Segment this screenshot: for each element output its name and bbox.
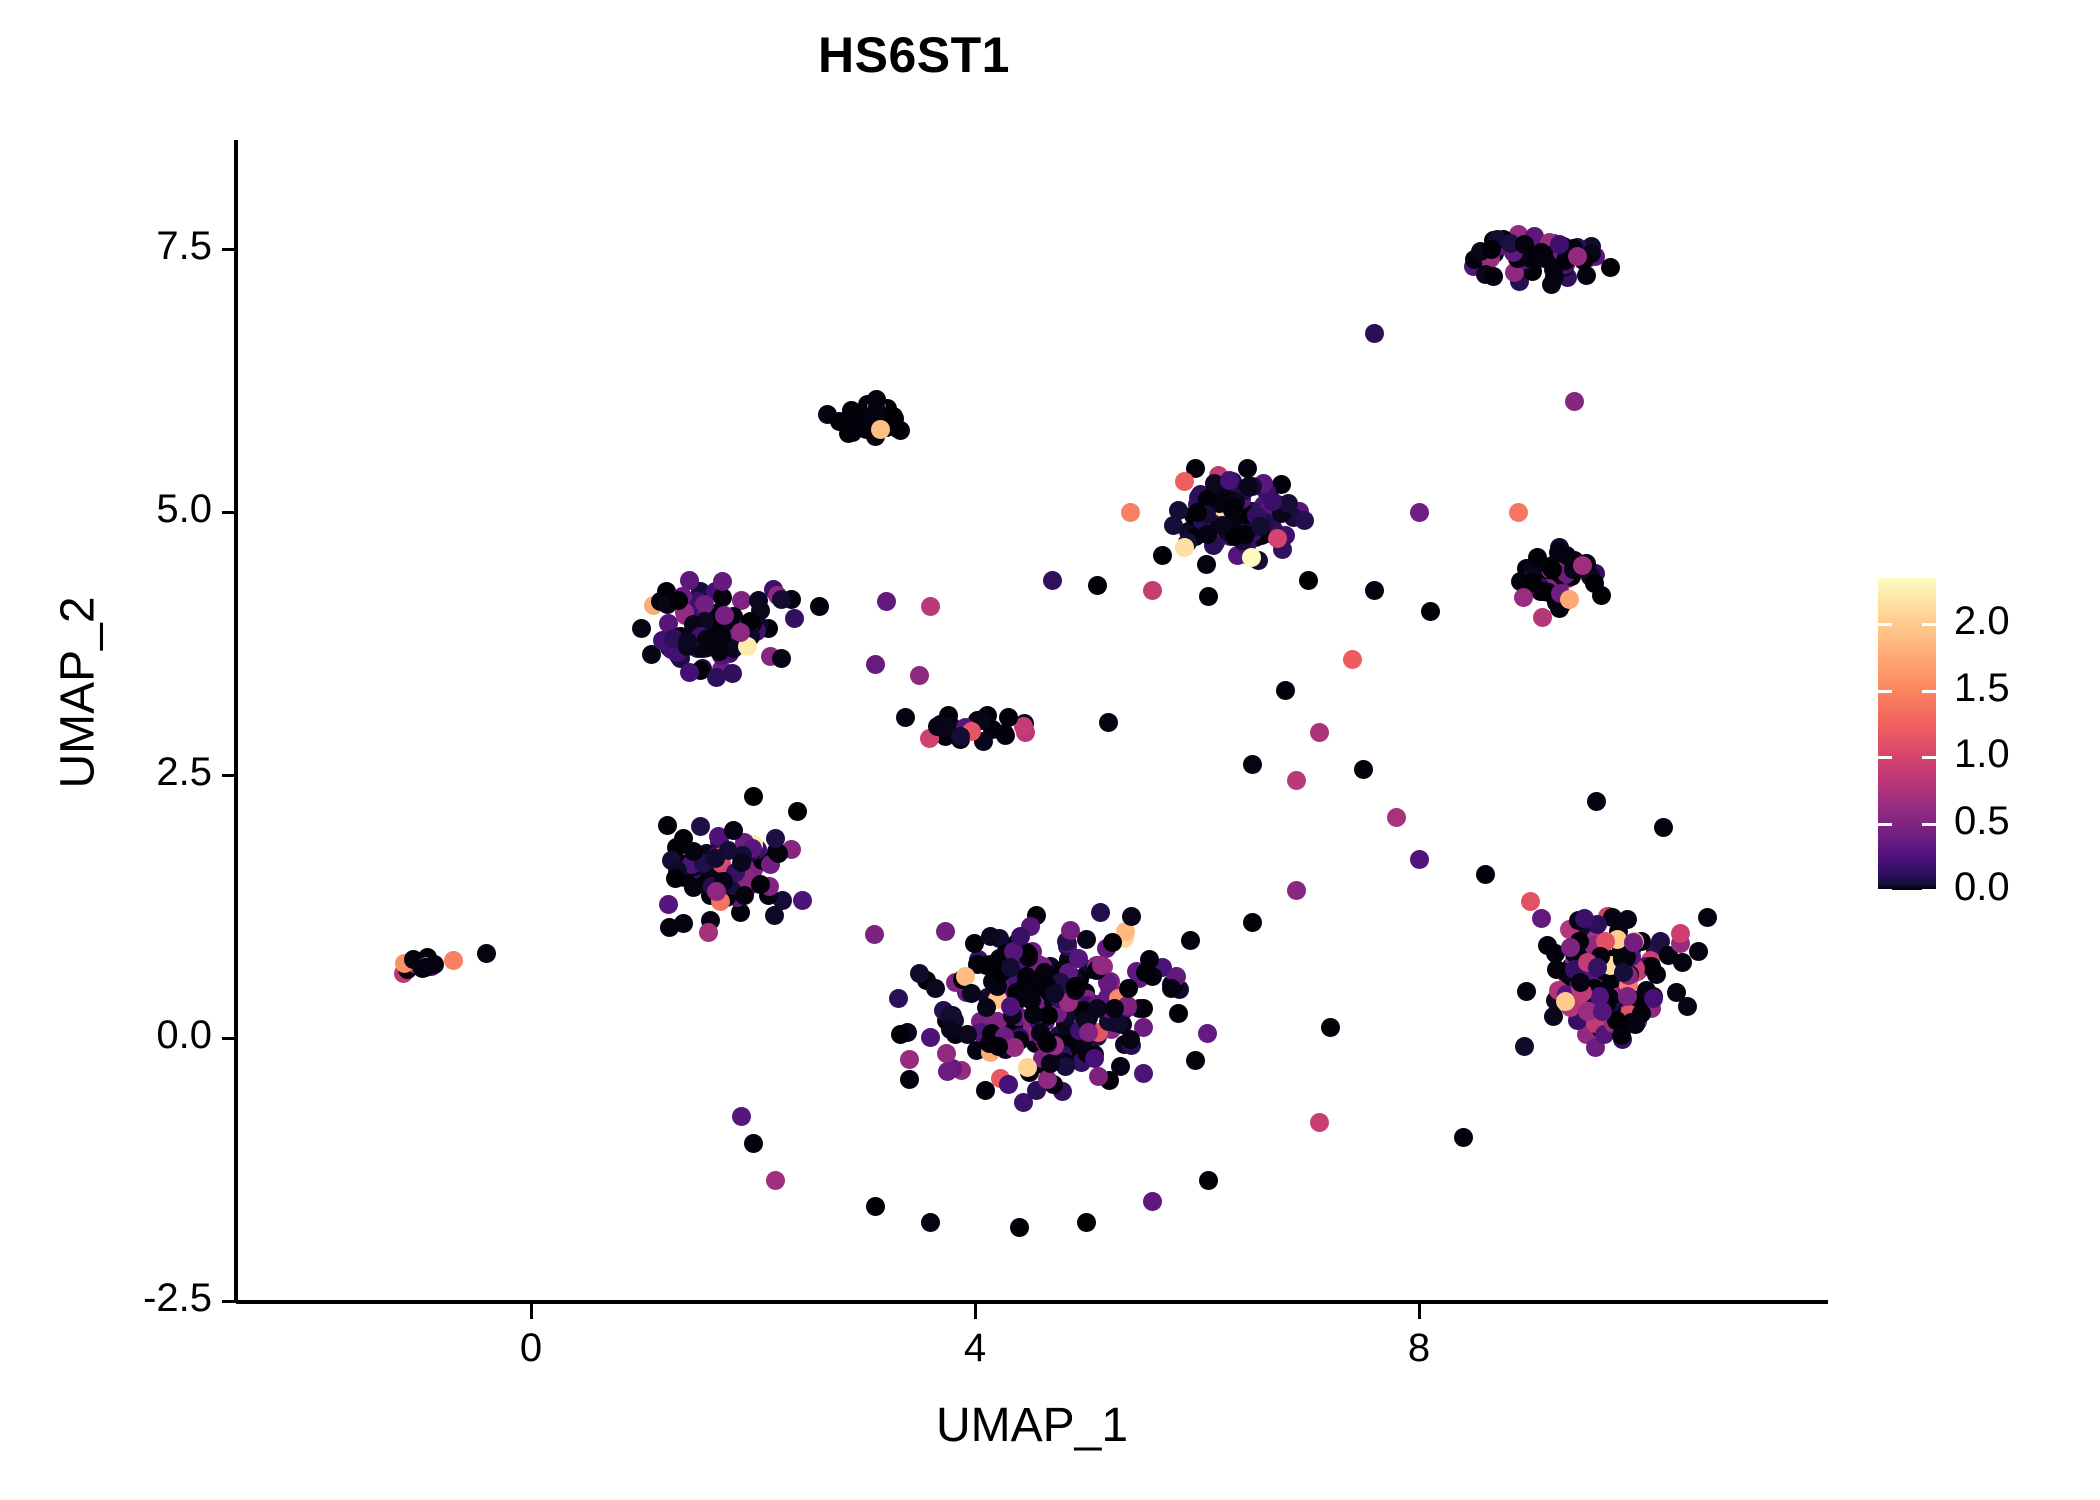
scatter-point	[1089, 1067, 1108, 1086]
scatter-point	[666, 869, 685, 888]
scatter-point	[981, 927, 1000, 946]
scatter-point	[444, 951, 463, 970]
scatter-point	[744, 1134, 763, 1153]
scatter-point	[962, 984, 981, 1003]
scatter-point	[926, 979, 945, 998]
scatter-point	[766, 829, 785, 848]
scatter-point	[1162, 979, 1181, 998]
scatter-point	[658, 816, 677, 835]
scatter-point	[735, 886, 754, 905]
scatter-point	[1514, 588, 1533, 607]
scatter-point	[1010, 1218, 1029, 1237]
scatter-point	[1175, 472, 1194, 491]
scatter-point	[1654, 818, 1673, 837]
scatter-point	[715, 606, 734, 625]
scatter-point	[1614, 963, 1633, 982]
x-tick-mark	[530, 1304, 533, 1319]
scatter-point	[1521, 892, 1540, 911]
scatter-point	[1515, 1037, 1534, 1056]
scatter-point	[1575, 909, 1594, 928]
scatter-point	[1287, 771, 1306, 790]
x-tick-mark	[1418, 1304, 1421, 1319]
scatter-point	[707, 668, 726, 687]
scatter-point	[1197, 555, 1216, 574]
scatter-point	[1198, 1024, 1217, 1043]
scatter-point	[1343, 650, 1362, 669]
page-title: HS6ST1	[0, 26, 1828, 84]
scatter-point	[1550, 235, 1569, 254]
scatter-point	[1061, 921, 1080, 940]
y-tick-label: -2.5	[143, 1276, 212, 1321]
scatter-point	[1268, 529, 1287, 548]
scatter-point	[999, 708, 1018, 727]
scatter-point	[1387, 808, 1406, 827]
y-tick-label: 5.0	[156, 487, 212, 532]
scatter-point	[691, 817, 710, 836]
scatter-point	[1136, 963, 1155, 982]
plot-panel	[236, 140, 1828, 1302]
chart-root: HS6ST1 7.55.02.50.0-2.5 048 UMAP_2 UMAP_…	[0, 0, 2100, 1500]
scatter-point	[1043, 571, 1062, 590]
scatter-point	[1181, 931, 1200, 950]
scatter-point	[1365, 581, 1384, 600]
scatter-point	[1618, 987, 1637, 1006]
colorbar-tick-mark	[1878, 756, 1892, 759]
scatter-point	[1018, 1058, 1037, 1077]
scatter-point	[1310, 723, 1329, 742]
scatter-point	[889, 989, 908, 1008]
y-tick-label: 2.5	[156, 750, 212, 795]
y-tick-label: 7.5	[156, 224, 212, 269]
scatter-point	[1122, 907, 1141, 926]
scatter-point	[996, 726, 1015, 745]
colorbar-tick-label: 0.5	[1954, 799, 2010, 844]
scatter-point	[1045, 984, 1064, 1003]
y-axis-title: UMAP_2	[51, 343, 106, 1043]
scatter-point	[1175, 538, 1194, 557]
scatter-point	[1573, 556, 1592, 575]
scatter-point	[1242, 548, 1261, 567]
scatter-point	[751, 875, 770, 894]
scatter-point	[477, 944, 496, 963]
scatter-point	[1547, 960, 1566, 979]
scatter-point	[1354, 760, 1373, 779]
y-tick-mark	[222, 1037, 236, 1040]
scatter-point	[1018, 982, 1037, 1001]
scatter-point	[1532, 909, 1551, 928]
scatter-point	[936, 922, 955, 941]
scatter-point	[1263, 492, 1282, 511]
scatter-point	[709, 630, 728, 649]
scatter-point	[632, 619, 651, 638]
scatter-point	[1001, 958, 1020, 977]
scatter-point	[1287, 881, 1306, 900]
scatter-point	[1213, 516, 1232, 535]
colorbar-tick-mark	[1922, 690, 1936, 693]
colorbar-tick-mark	[1922, 889, 1936, 892]
scatter-point	[1153, 546, 1172, 565]
scatter-point	[951, 727, 970, 746]
scatter-point	[1410, 503, 1429, 522]
scatter-point	[1410, 850, 1429, 869]
scatter-point	[699, 923, 718, 942]
scatter-point	[866, 655, 885, 674]
scatter-point	[1085, 1049, 1104, 1068]
scatter-point	[1276, 681, 1295, 700]
scatter-point	[788, 802, 807, 821]
colorbar-tick-label: 1.0	[1954, 732, 2010, 777]
scatter-point	[896, 708, 915, 727]
scatter-point	[1689, 942, 1708, 961]
y-tick-mark	[222, 248, 236, 251]
scatter-point	[1571, 973, 1590, 992]
scatter-point	[1588, 958, 1607, 977]
colorbar-tick-mark	[1922, 756, 1936, 759]
colorbar-tick-mark	[1878, 823, 1892, 826]
scatter-point	[1041, 1054, 1060, 1073]
scatter-point	[1134, 999, 1153, 1018]
scatter-point	[1618, 910, 1637, 929]
scatter-point	[1299, 571, 1318, 590]
y-axis-line	[234, 140, 238, 1302]
colorbar-tick-mark	[1922, 823, 1936, 826]
y-tick-label: 0.0	[156, 1013, 212, 1058]
scatter-point	[1509, 503, 1528, 522]
scatter-point	[1103, 933, 1122, 952]
scatter-point	[941, 1020, 960, 1039]
scatter-point	[900, 1070, 919, 1089]
scatter-point	[793, 891, 812, 910]
scatter-point	[1279, 494, 1298, 513]
scatter-point	[1295, 511, 1314, 530]
colorbar-tick-mark	[1878, 623, 1892, 626]
scatter-point	[1099, 713, 1118, 732]
scatter-point	[723, 664, 742, 683]
scatter-point	[1243, 913, 1262, 932]
scatter-point	[1119, 979, 1138, 998]
scatter-point	[1365, 324, 1384, 343]
x-tick-label: 0	[481, 1326, 581, 1371]
scatter-point	[1671, 924, 1690, 943]
scatter-point	[866, 1197, 885, 1216]
scatter-point	[1601, 258, 1620, 277]
x-axis-line	[236, 1300, 1828, 1304]
scatter-point	[891, 1025, 910, 1044]
scatter-point	[928, 717, 947, 736]
scatter-point	[660, 918, 679, 937]
scatter-point	[684, 842, 703, 861]
scatter-point	[425, 955, 444, 974]
scatter-point	[1542, 275, 1561, 294]
scatter-point	[1121, 503, 1140, 522]
scatter-point	[772, 590, 791, 609]
scatter-point	[1143, 1192, 1162, 1211]
scatter-point	[1484, 267, 1503, 286]
scatter-point	[713, 572, 732, 591]
scatter-point	[1698, 908, 1717, 927]
scatter-point	[1310, 1113, 1329, 1132]
scatter-point	[1223, 497, 1242, 516]
scatter-point	[1024, 1005, 1043, 1024]
scatter-point	[1066, 977, 1085, 996]
scatter-point	[1476, 865, 1495, 884]
colorbar-tick-label: 2.0	[1954, 599, 2010, 644]
scatter-point	[706, 849, 725, 868]
scatter-point	[999, 1075, 1018, 1094]
scatter-point	[1585, 574, 1604, 593]
scatter-point	[1188, 503, 1207, 522]
colorbar-legend: 2.01.51.00.50.0	[1878, 578, 2078, 890]
scatter-point	[1482, 240, 1501, 259]
scatter-point	[1077, 1213, 1096, 1232]
scatter-point	[1642, 957, 1661, 976]
scatter-point	[1644, 989, 1663, 1008]
scatter-point	[1454, 1128, 1473, 1147]
scatter-point	[1220, 471, 1239, 490]
scatter-point	[772, 649, 791, 668]
scatter-point	[1134, 1064, 1153, 1083]
scatter-point	[1105, 999, 1124, 1018]
colorbar-tick-label: 1.5	[1954, 666, 2010, 711]
scatter-point	[1538, 936, 1557, 955]
scatter-point	[1421, 602, 1440, 621]
scatter-points-layer	[236, 140, 1828, 1302]
scatter-point	[921, 597, 940, 616]
scatter-point	[766, 1171, 785, 1190]
scatter-point	[785, 609, 804, 628]
x-tick-label: 8	[1369, 1326, 1469, 1371]
scatter-point	[678, 632, 697, 651]
scatter-point	[684, 878, 703, 897]
scatter-point	[1001, 997, 1020, 1016]
scatter-point	[1088, 576, 1107, 595]
scatter-point	[1199, 587, 1218, 606]
scatter-point	[659, 895, 678, 914]
scatter-point	[977, 998, 996, 1017]
x-tick-label: 4	[925, 1326, 1025, 1371]
scatter-point	[865, 925, 884, 944]
scatter-point	[1624, 933, 1643, 952]
scatter-point	[1565, 392, 1584, 411]
scatter-point	[1143, 581, 1162, 600]
scatter-point	[1091, 903, 1110, 922]
scatter-point	[1169, 1004, 1188, 1023]
scatter-point	[1560, 590, 1579, 609]
y-tick-mark	[222, 774, 236, 777]
scatter-point	[910, 964, 929, 983]
colorbar-tick-mark	[1922, 623, 1936, 626]
scatter-point	[744, 787, 763, 806]
scatter-point	[1515, 235, 1534, 254]
scatter-point	[707, 882, 726, 901]
colorbar-tick-mark	[1878, 690, 1892, 693]
scatter-point	[1321, 1018, 1340, 1037]
scatter-point	[1199, 1171, 1218, 1190]
scatter-point	[900, 1050, 919, 1069]
colorbar-tick-label: 0.0	[1954, 865, 2010, 910]
scatter-point	[910, 666, 929, 685]
scatter-point	[732, 853, 751, 872]
scatter-point	[1243, 755, 1262, 774]
scatter-point	[1517, 982, 1536, 1001]
colorbar-tick-mark	[1878, 889, 1892, 892]
scatter-point	[921, 1213, 940, 1232]
scatter-point	[1186, 1051, 1205, 1070]
scatter-point	[921, 1028, 940, 1047]
scatter-point	[1079, 1023, 1098, 1042]
scatter-point	[1238, 459, 1257, 478]
scatter-point	[877, 592, 896, 611]
scatter-point	[1593, 1002, 1612, 1021]
y-tick-mark	[222, 511, 236, 514]
x-axis-title: UMAP_1	[236, 1398, 1828, 1453]
scatter-point	[980, 1034, 999, 1053]
scatter-point	[810, 597, 829, 616]
scatter-point	[1587, 792, 1606, 811]
y-tick-mark	[222, 1300, 236, 1303]
scatter-point	[938, 1062, 957, 1081]
x-tick-mark	[974, 1304, 977, 1319]
scatter-point	[732, 1107, 751, 1126]
scatter-point	[765, 906, 784, 925]
scatter-point	[1533, 608, 1552, 627]
